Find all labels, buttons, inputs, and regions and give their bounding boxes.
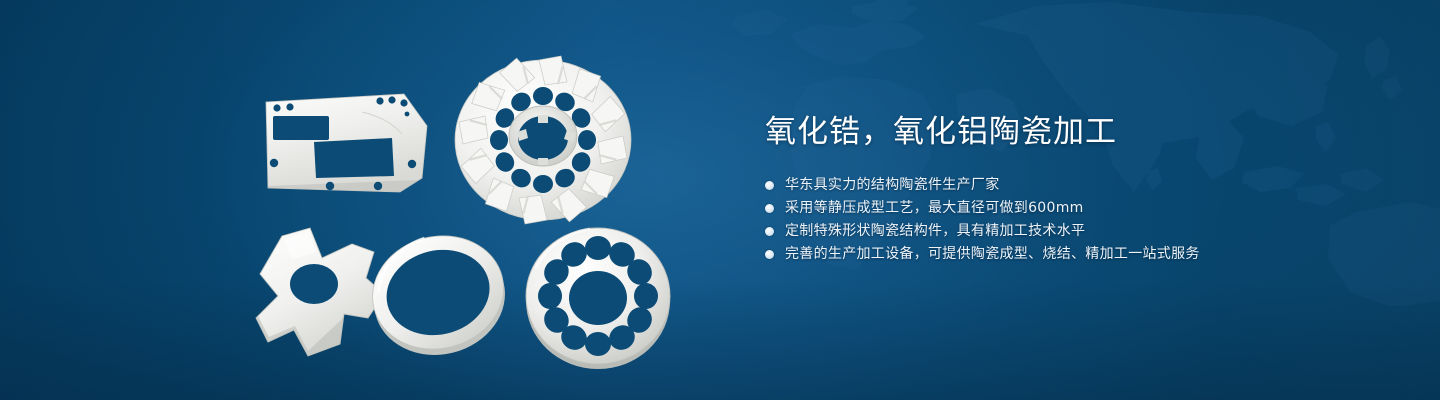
bullet-dot-icon [765, 204, 774, 213]
bullet-dot-icon [765, 181, 774, 190]
list-item-label: 华东具实力的结构陶瓷件生产厂家 [785, 174, 1000, 197]
ceramic-ring [352, 222, 527, 367]
list-item: 完善的生产加工设备，可提供陶瓷成型、烧结、精加工一站式服务 [765, 243, 1385, 266]
list-item-label: 定制特殊形状陶瓷结构件，具有精加工技术水平 [785, 220, 1085, 243]
ceramic-plate [252, 76, 442, 206]
page-title: 氧化锆，氧化铝陶瓷加工 [765, 112, 1385, 152]
list-item-label: 采用等静压成型工艺，最大直径可做到600mm [785, 197, 1084, 220]
list-item: 定制特殊形状陶瓷结构件，具有精加工技术水平 [765, 220, 1385, 243]
bullet-dot-icon [765, 227, 774, 236]
product-photo-cluster [0, 0, 760, 400]
banner-copy: 氧化锆，氧化铝陶瓷加工 华东具实力的结构陶瓷件生产厂家 采用等静压成型工艺，最大… [765, 112, 1385, 282]
feature-list: 华东具实力的结构陶瓷件生产厂家 采用等静压成型工艺，最大直径可做到600mm 定… [765, 174, 1385, 266]
ceramic-perforated-disc [514, 218, 684, 378]
bullet-dot-icon [765, 250, 774, 259]
list-item: 采用等静压成型工艺，最大直径可做到600mm [765, 197, 1385, 220]
ceramic-impeller [443, 48, 643, 238]
list-item: 华东具实力的结构陶瓷件生产厂家 [765, 174, 1385, 197]
promo-banner: 氧化锆，氧化铝陶瓷加工 华东具实力的结构陶瓷件生产厂家 采用等静压成型工艺，最大… [0, 0, 1440, 400]
list-item-label: 完善的生产加工设备，可提供陶瓷成型、烧结、精加工一站式服务 [785, 243, 1200, 266]
